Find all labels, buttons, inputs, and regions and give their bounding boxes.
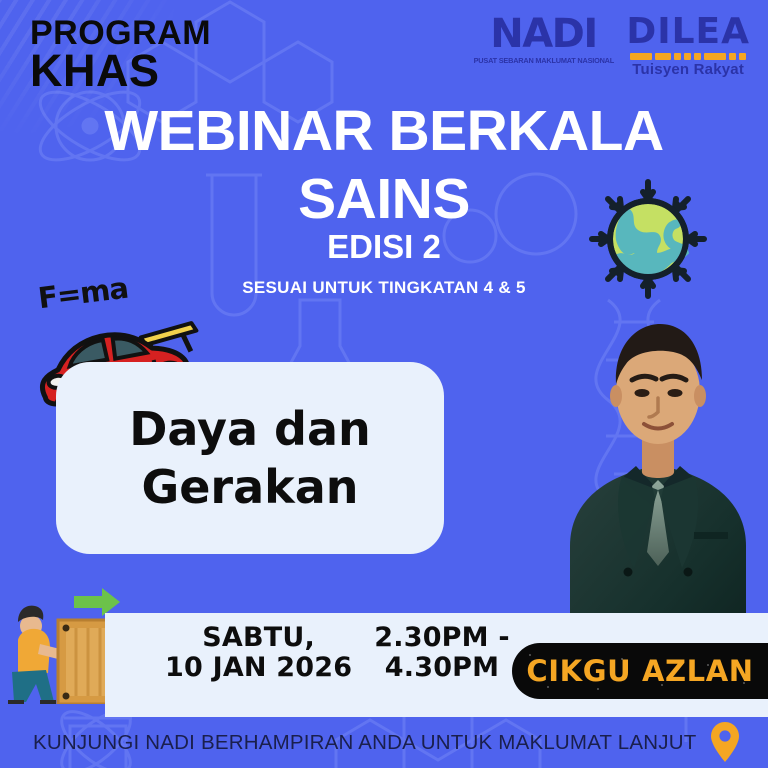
footer-text: KUNJUNGI NADI BERHAMPIRAN ANDA UNTUK MAK… (33, 731, 696, 755)
program-khas-heading: PROGRAM KHAS (30, 18, 211, 91)
schedule-date-value: 10 JAN 2026 (165, 653, 352, 683)
dilea-dash-decoration (626, 53, 750, 60)
khas-label: KHAS (30, 50, 211, 92)
nadi-subtitle: PUSAT SEBARAN MAKLUMAT NASIONAL (473, 56, 613, 65)
schedule-time-end: 4.30PM (374, 653, 509, 683)
topic-line2: Gerakan (141, 464, 358, 510)
nadi-logo: NADI PUSAT SEBARAN MAKLUMAT NASIONAL (475, 14, 613, 65)
schedule-time: 2.30PM - 4.30PM (374, 623, 509, 683)
logo-group: NADI PUSAT SEBARAN MAKLUMAT NASIONAL DIL… (475, 14, 750, 78)
poster-canvas: PROGRAM KHAS NADI PUSAT SEBARAN MAKLUMAT… (0, 0, 768, 768)
schedule-day: SABTU, (165, 623, 352, 653)
dilea-wordmark: DILEA (626, 14, 750, 50)
dilea-logo: DILEA Tuisyen Rakyat (626, 14, 750, 78)
schedule-date: SABTU, 10 JAN 2026 (165, 623, 352, 683)
footer-bar: KUNJUNGI NADI BERHAMPIRAN ANDA UNTUK MAK… (0, 717, 768, 768)
nadi-wordmark: NADI (475, 14, 613, 54)
page-title-line1: WEBINAR BERKALA (0, 104, 768, 160)
topic-card: Daya dan Gerakan (56, 362, 444, 554)
schedule-content: SABTU, 10 JAN 2026 2.30PM - 4.30PM (165, 623, 510, 683)
globe-gravity-icon (588, 178, 708, 305)
speaker-name-badge: CIKGU AZLAN (512, 643, 768, 699)
schedule-time-start: 2.30PM - (374, 623, 509, 653)
topic-line1: Daya dan (129, 406, 371, 452)
dilea-subtitle: Tuisyen Rakyat (626, 61, 750, 78)
map-pin-icon (708, 719, 742, 768)
speaker-name-label: CIKGU AZLAN (526, 654, 753, 688)
